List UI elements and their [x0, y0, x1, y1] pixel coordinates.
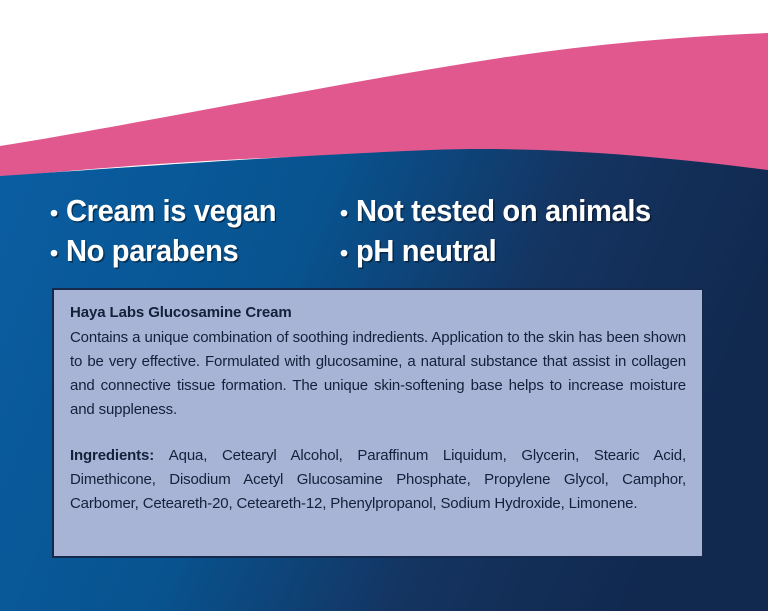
product-label-artwork: • Cream is vegan • No parabens • Not tes… [0, 0, 768, 611]
claim-item-cream-is-vegan: • Cream is vegan [50, 192, 340, 232]
claims-column-2: • Not tested on animals • pH neutral [340, 192, 740, 272]
ingredients-label: Ingredients: [70, 447, 169, 464]
product-name-heading: Haya Labs Glucosamine Cream [70, 303, 686, 323]
claim-label: pH neutral [356, 232, 496, 270]
product-info-panel: Haya Labs Glucosamine Cream Contains a u… [52, 288, 704, 558]
claims-list: • Cream is vegan • No parabens • Not tes… [0, 192, 768, 272]
bullet-icon: • [50, 234, 58, 272]
product-description: Contains a unique combination of soothin… [70, 326, 686, 422]
claim-label: Cream is vegan [66, 192, 276, 230]
bullet-icon: • [50, 194, 58, 232]
bullet-icon: • [340, 194, 348, 232]
claim-item-ph-neutral: • pH neutral [340, 232, 740, 272]
claim-label: No parabens [66, 232, 238, 270]
ingredients-paragraph: Ingredients: Aqua, Cetearyl Alcohol, Par… [70, 422, 686, 516]
claims-column-1: • Cream is vegan • No parabens [50, 192, 340, 272]
bullet-icon: • [340, 234, 348, 272]
claim-item-not-tested-on-animals: • Not tested on animals [340, 192, 740, 232]
claim-item-no-parabens: • No parabens [50, 232, 340, 272]
claim-label: Not tested on animals [356, 192, 651, 230]
